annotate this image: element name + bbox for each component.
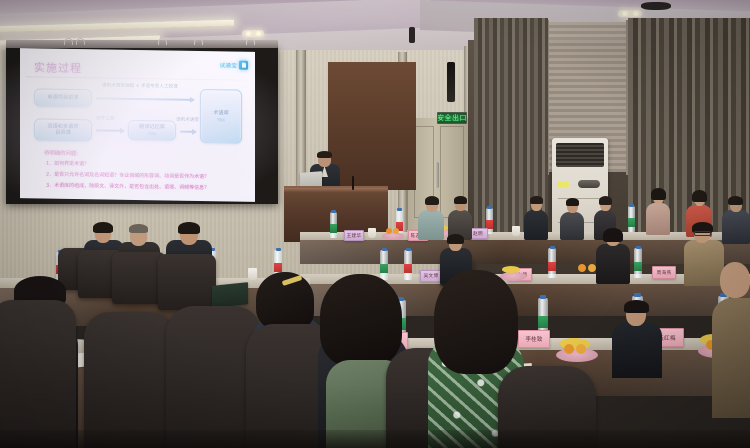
attendee-hair (320, 274, 402, 366)
projection-screen: 实施过程 试通宝 单语项目资源 双语和多语项 目资源 翻译记忆库 TMX 术语库… (6, 46, 278, 204)
orange-fruit (564, 344, 574, 354)
placard-name: 李桂致 (525, 335, 542, 343)
screen-clip (246, 38, 255, 45)
paper-cup[interactable] (248, 268, 257, 280)
attendee-torso (712, 298, 750, 418)
attendee-torso (612, 322, 662, 378)
question-item: 3．术语库的组成，除原文、译文外，是否包含出处、语境、词频等信息？ (46, 182, 209, 192)
bottle-cap (276, 248, 281, 251)
attendee-hair (651, 188, 666, 200)
eyeglasses-icon (694, 231, 711, 236)
attendee-torso (684, 240, 724, 286)
bottle-cap (397, 208, 402, 211)
question-item: 2．是否只允许名词及名词短语？专业领域的形容词、动词是否作为术语？ (46, 171, 209, 181)
box-subtitle: TMX (147, 131, 156, 136)
microphone (352, 176, 354, 190)
attendee-hair (434, 270, 518, 374)
diagram-arrow-termbox (180, 131, 196, 133)
ceiling-spotlight (621, 11, 629, 16)
ac-sticker (557, 182, 569, 187)
paper-cup[interactable] (368, 228, 376, 238)
attendee-torso (524, 210, 548, 240)
bottle-label (634, 262, 642, 271)
attendee-hair (93, 222, 113, 233)
water-bottle[interactable] (628, 206, 635, 232)
arrow-label-termbox: 语帆术语宝 (176, 117, 199, 123)
ac-control-panel[interactable] (578, 180, 600, 188)
placard-name: 赵明 (473, 231, 483, 237)
ceiling-spotlight (632, 11, 640, 16)
table-reflection (300, 238, 750, 264)
chair[interactable] (0, 300, 76, 448)
speaker-hair (317, 151, 332, 158)
orange-fruit (576, 344, 586, 354)
attendee-torso (596, 244, 630, 284)
bottle-cap (540, 295, 546, 299)
ceiling-spotlight (255, 31, 262, 36)
bottle-cap (634, 293, 641, 297)
attendee-hair (530, 196, 543, 204)
screen-top-bar (6, 40, 278, 48)
ceiling-spotlight (245, 31, 252, 36)
banana (502, 266, 520, 273)
bottle-label (538, 316, 548, 328)
chair[interactable] (498, 366, 596, 448)
book-logo-icon (239, 61, 248, 70)
chair[interactable] (84, 312, 176, 448)
placard-name: 王建华 (347, 233, 362, 239)
placard-name: 周海燕 (657, 270, 672, 276)
attendee-hair (728, 196, 743, 205)
box-subtitle: TBX (217, 117, 225, 122)
ceiling-projector-mount (409, 27, 415, 43)
orange-fruit (386, 228, 392, 234)
emergency-exit-sign: 安全出口 (437, 112, 467, 124)
screen-clip (64, 38, 73, 45)
diagram-box-source-single: 单语项目资源 (34, 88, 92, 107)
attendee-hair (603, 228, 623, 242)
name-placard: 吴文博 (420, 270, 442, 282)
fruit-plate (500, 272, 526, 281)
ceiling-speaker (641, 2, 671, 10)
question-heading: 待明确的问题: (44, 149, 78, 158)
arrow-label-align: 对齐工具 (96, 115, 114, 121)
attendee-head (720, 262, 750, 298)
attendee-hair (129, 224, 148, 233)
name-placard: 李桂致 (518, 330, 550, 348)
bottle-label (548, 262, 556, 271)
podium-backdrop (328, 62, 416, 190)
attendee-hair (178, 222, 200, 234)
slide-surface: 实施过程 试通宝 单语项目资源 双语和多语项 目资源 翻译记忆库 TMX 术语库… (20, 48, 255, 202)
screen-clip (194, 38, 203, 45)
water-bottle[interactable] (380, 250, 388, 280)
table-row-far (300, 238, 750, 264)
attendee-hair (454, 196, 467, 204)
attendee-hair (624, 300, 649, 313)
paper-cup[interactable] (512, 226, 520, 236)
slide-logo-label: 试通宝 (220, 61, 237, 69)
name-placard: 王建华 (344, 230, 364, 241)
slide-title: 实施过程 (34, 59, 82, 76)
bottle-cap (382, 248, 387, 251)
attendee-torso (646, 203, 670, 235)
attendee-hair (566, 198, 579, 206)
bottle-cap (636, 246, 641, 249)
slide-logo: 试通宝 (220, 60, 248, 69)
bottle-cap (406, 248, 411, 251)
ac-vent-line (558, 198, 602, 199)
wall-speaker (447, 62, 455, 102)
bottle-label (330, 224, 337, 233)
attendee-torso (722, 210, 750, 244)
water-bottle[interactable] (548, 248, 556, 278)
attendee-hair (599, 196, 612, 205)
attendee-laptop[interactable] (212, 282, 248, 308)
bottle-cap (550, 246, 555, 249)
name-placard: 周海燕 (652, 266, 676, 279)
attendee-hair (447, 234, 464, 244)
orange-fruit (393, 228, 399, 234)
bottle-label (380, 264, 388, 273)
question-item: 1．如何界定术语？ (46, 160, 89, 168)
bottle-label (404, 264, 412, 273)
water-bottle[interactable] (634, 248, 642, 278)
bottle-label (628, 218, 635, 227)
bottle-label (274, 263, 282, 272)
orange-fruit (588, 264, 596, 272)
bottle-cap (487, 206, 492, 209)
orange-fruit (578, 264, 586, 272)
attendee-torso (560, 212, 584, 240)
bottle-cap (331, 210, 336, 213)
box-title: 单语项目资源 (47, 94, 78, 101)
attendee-torso (418, 210, 444, 240)
diagram-arrow-align (96, 129, 124, 131)
exit-sign-label: 安全出口 (437, 115, 467, 122)
attendee-hair (425, 196, 439, 205)
diagram-box-source-bilingual: 双语和多语项 目资源 (34, 118, 92, 141)
bottle-cap (629, 204, 634, 207)
diagram-box-term-base: 术语库 TBX (200, 89, 242, 144)
podium-edge (284, 188, 388, 192)
arrow-label-extract: 语帆术语宝抽取 + 术语专家人工校准 (102, 82, 178, 89)
placard-name: 吴文博 (424, 273, 439, 279)
water-bottle[interactable] (404, 250, 412, 280)
diagram-arrow-extract (96, 97, 194, 100)
conference-room-photo: 安全出口 实施过程 试通宝 单语项目资源 双语和多语项 目资源 (0, 0, 750, 448)
box-title-line2: 目资源 (55, 130, 71, 137)
slide-title-underline (26, 76, 248, 80)
screen-clip (158, 38, 167, 45)
chair[interactable] (158, 254, 216, 310)
diagram-box-translation-memory: 翻译记忆库 TMX (128, 120, 176, 141)
screen-clip (76, 38, 85, 45)
door-handle-icon[interactable] (435, 162, 439, 188)
attendee-hair (692, 190, 707, 202)
ac-grill (556, 143, 604, 167)
water-bottle[interactable] (330, 212, 337, 238)
